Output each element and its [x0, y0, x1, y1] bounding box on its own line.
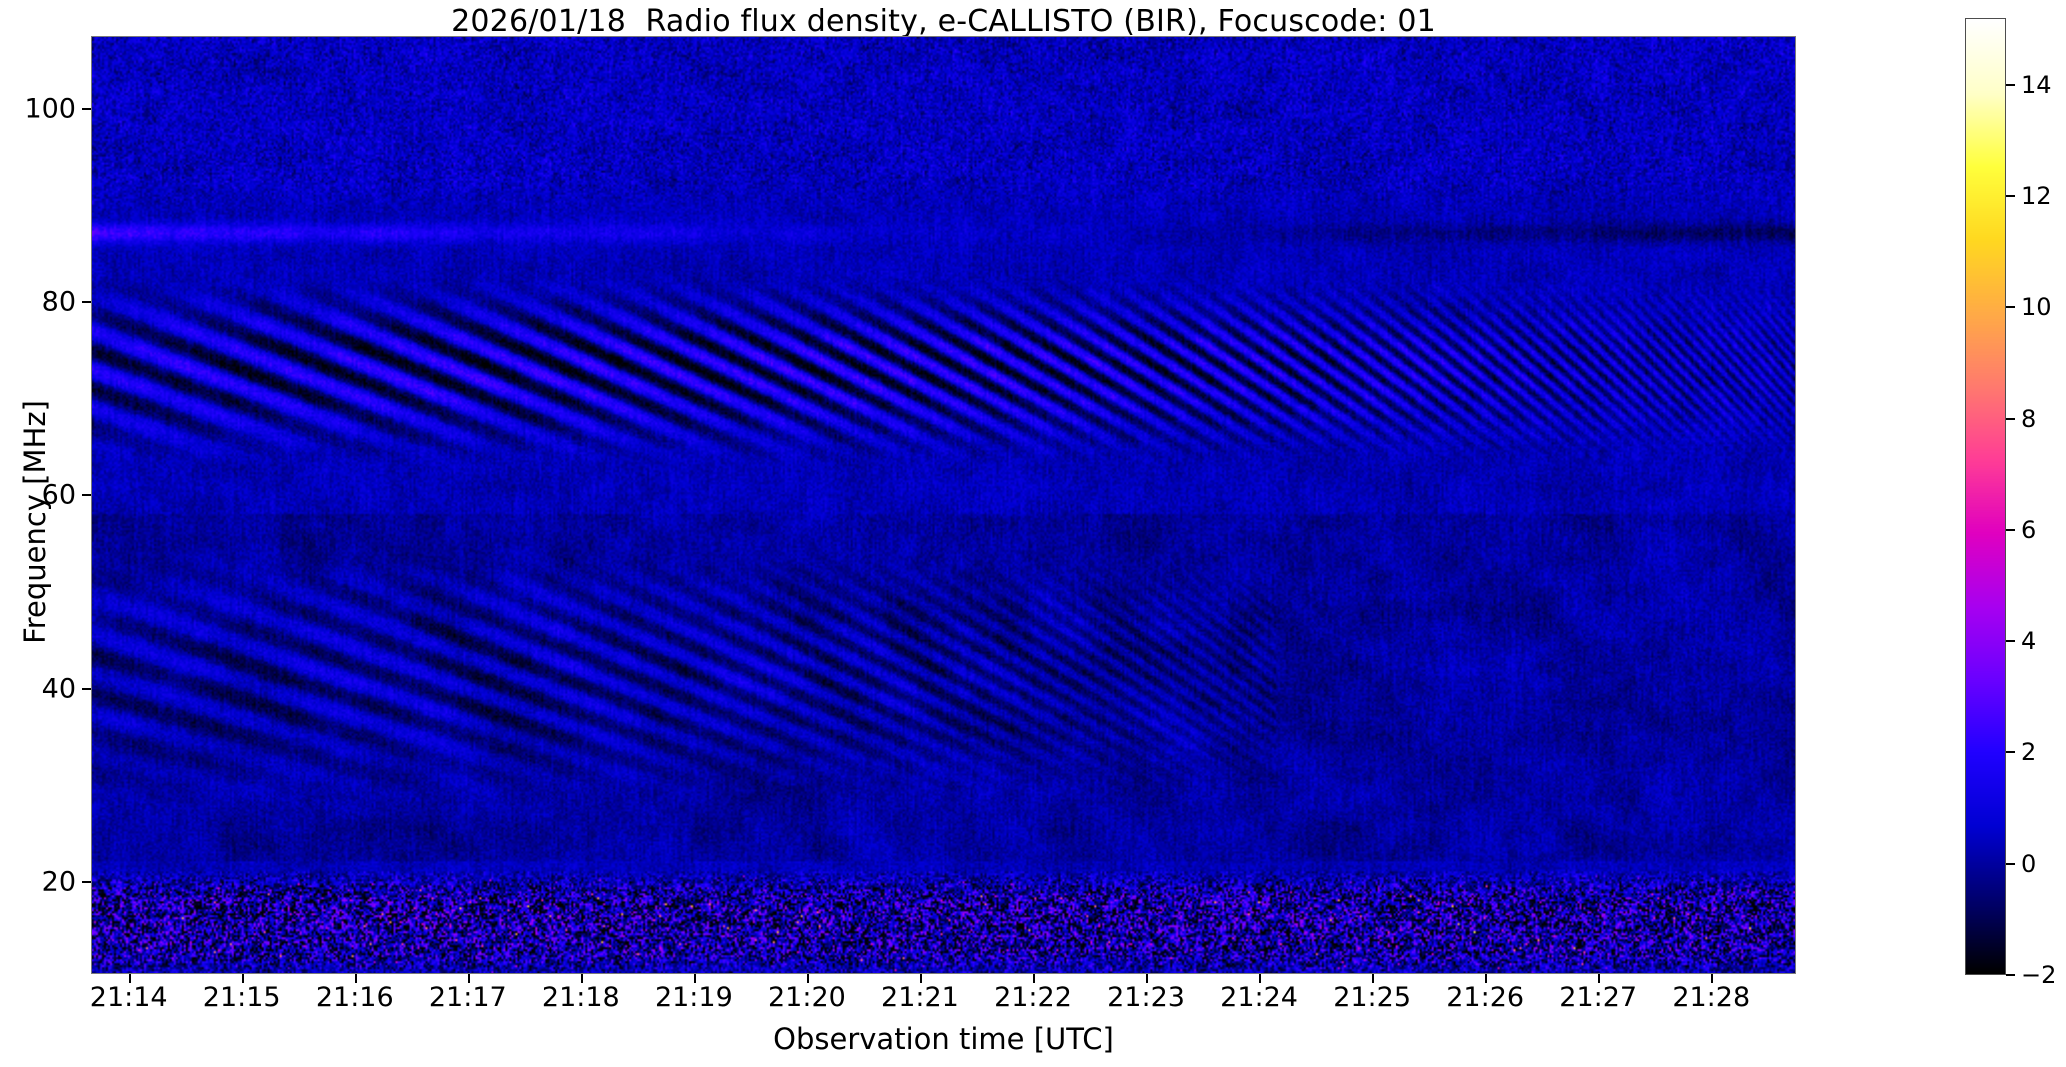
- x-tick-mark: [242, 974, 244, 983]
- x-tick-mark: [468, 974, 470, 983]
- x-tick-label: 21:28: [1631, 982, 1791, 1013]
- page-title: 2026/01/18 Radio flux density, e-CALLIST…: [0, 4, 1887, 39]
- colorbar-tick-mark: [2006, 306, 2015, 308]
- x-tick-mark: [1033, 974, 1035, 983]
- x-tick-mark: [129, 974, 131, 983]
- colorbar-tick-label: 14: [2021, 71, 2052, 99]
- y-tick-mark: [82, 881, 91, 883]
- colorbar-tick-mark: [2006, 195, 2015, 197]
- colorbar-tick-mark: [2006, 751, 2015, 753]
- colorbar-tick-mark: [2006, 863, 2015, 865]
- colorbar-tick-mark: [2006, 84, 2015, 86]
- y-tick-mark: [82, 688, 91, 690]
- colorbar-tick-label: 6: [2021, 516, 2036, 544]
- y-tick-label: 20: [6, 867, 76, 898]
- y-tick-mark: [82, 494, 91, 496]
- x-tick-mark: [1146, 974, 1148, 983]
- y-tick-label: 100: [6, 93, 76, 124]
- colorbar-tick-mark: [2006, 529, 2015, 531]
- x-tick-mark: [581, 974, 583, 983]
- x-tick-mark: [1711, 974, 1713, 983]
- x-tick-mark: [694, 974, 696, 983]
- colorbar-tick-mark: [2006, 974, 2015, 976]
- colorbar-tick-label: 4: [2021, 627, 2036, 655]
- x-tick-mark: [355, 974, 357, 983]
- spectrogram-figure: 2026/01/18 Radio flux density, e-CALLIST…: [0, 0, 2066, 1067]
- x-tick-mark: [920, 974, 922, 983]
- colorbar-tick-label: 10: [2021, 293, 2052, 321]
- spectrogram-axes: [91, 36, 1796, 974]
- colorbar-tick-mark: [2006, 418, 2015, 420]
- x-axis-label: Observation time [UTC]: [91, 1022, 1796, 1056]
- colorbar-tick-label: 8: [2021, 405, 2036, 433]
- colorbar: [1965, 18, 2006, 975]
- colorbar-tick-mark: [2006, 640, 2015, 642]
- y-axis-label: Frequency [MHz]: [18, 262, 52, 782]
- colorbar-gradient: [1966, 19, 2005, 974]
- colorbar-tick-label: −2: [2021, 961, 2056, 989]
- x-tick-mark: [1372, 974, 1374, 983]
- x-tick-mark: [807, 974, 809, 983]
- x-tick-mark: [1598, 974, 1600, 983]
- spectrogram-image: [92, 37, 1795, 973]
- y-tick-mark: [82, 108, 91, 110]
- x-tick-mark: [1259, 974, 1261, 983]
- colorbar-tick-label: 0: [2021, 850, 2036, 878]
- y-tick-mark: [82, 301, 91, 303]
- colorbar-tick-label: 12: [2021, 182, 2052, 210]
- colorbar-tick-label: 2: [2021, 738, 2036, 766]
- x-tick-mark: [1485, 974, 1487, 983]
